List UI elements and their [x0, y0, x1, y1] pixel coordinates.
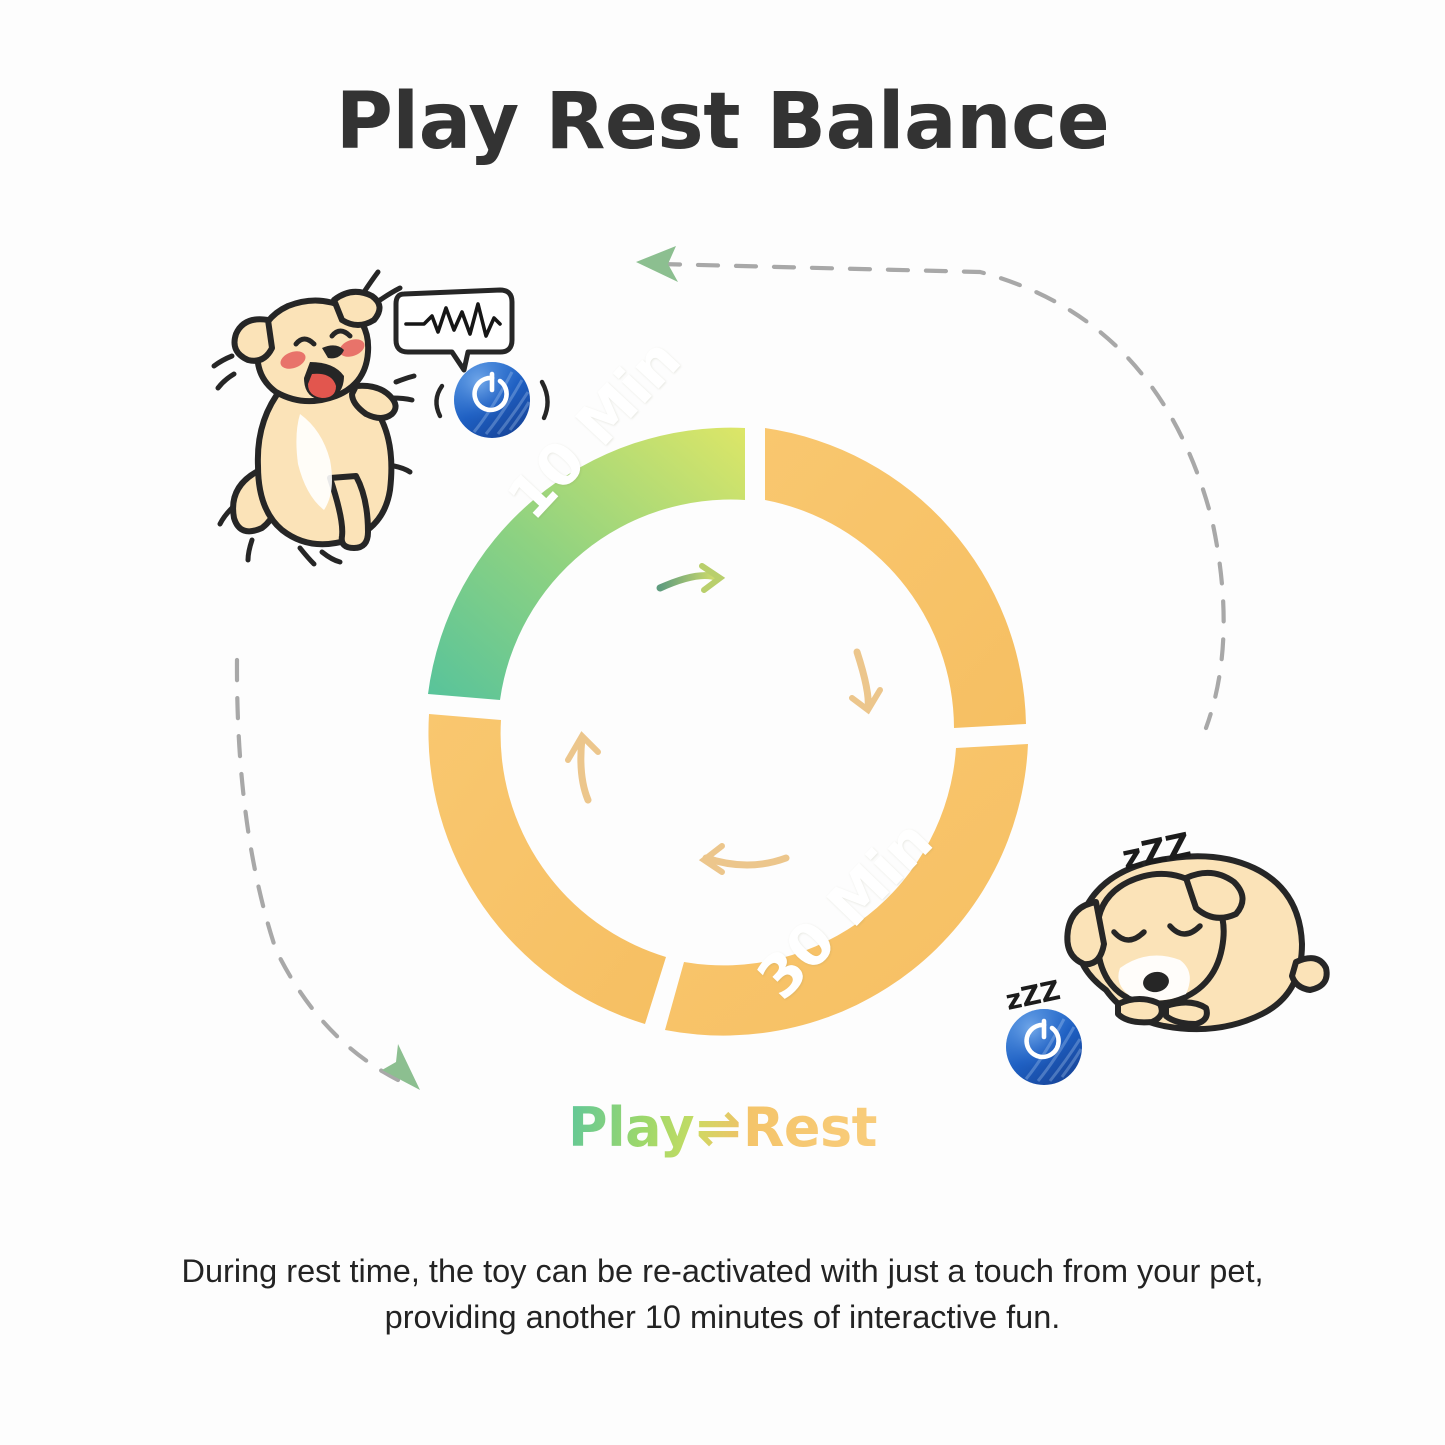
- wordmark-play: Play: [568, 1096, 694, 1159]
- swap-arrows-icon: ⇌: [694, 1096, 743, 1159]
- donut-segment-30min-a[interactable]: [765, 428, 1026, 728]
- infographic-canvas: Play Rest Balance: [0, 0, 1445, 1445]
- play-ball[interactable]: [436, 362, 547, 438]
- donut-chart: [428, 428, 1028, 1036]
- rest-ball[interactable]: [1006, 1009, 1082, 1085]
- wordmark-rest: Rest: [743, 1096, 877, 1159]
- inner-rotation-arrows: [568, 566, 880, 872]
- heartbeat-speech-bubble: [396, 290, 512, 370]
- donut-segment-30min-c[interactable]: [428, 714, 666, 1024]
- infographic-artwork: zZZ zZZ: [0, 0, 1445, 1445]
- play-dog-illustration: [214, 272, 548, 564]
- caption-text: During rest time, the toy can be re-acti…: [120, 1248, 1325, 1340]
- play-rest-wordmark: Play⇌Rest: [0, 1096, 1445, 1159]
- outer-dashed-arc-left: [237, 660, 420, 1090]
- rest-dog-illustration: zZZ zZZ: [1003, 825, 1327, 1085]
- arrowhead-down-right-icon: [382, 1044, 420, 1090]
